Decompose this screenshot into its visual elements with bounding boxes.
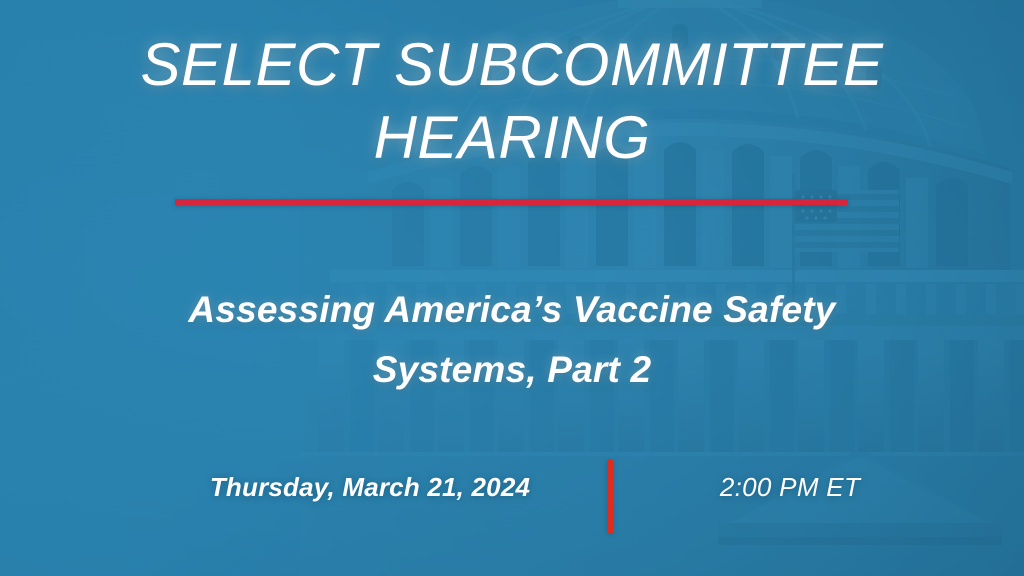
hearing-time: 2:00 PM ET <box>640 472 940 503</box>
hearing-date: Thursday, March 21, 2024 <box>160 472 580 503</box>
details-red-divider <box>607 460 613 533</box>
title-red-divider <box>175 199 848 205</box>
hearing-announcement-slide: SELECT SUBCOMMITTEE HEARING Assessing Am… <box>0 0 1024 576</box>
hearing-details-row: Thursday, March 21, 2024 2:00 PM ET <box>0 458 1024 536</box>
slide-content: SELECT SUBCOMMITTEE HEARING Assessing Am… <box>0 0 1024 576</box>
hearing-subtitle: Assessing America’s Vaccine Safety Syste… <box>92 280 932 400</box>
page-title: SELECT SUBCOMMITTEE HEARING <box>60 28 964 174</box>
